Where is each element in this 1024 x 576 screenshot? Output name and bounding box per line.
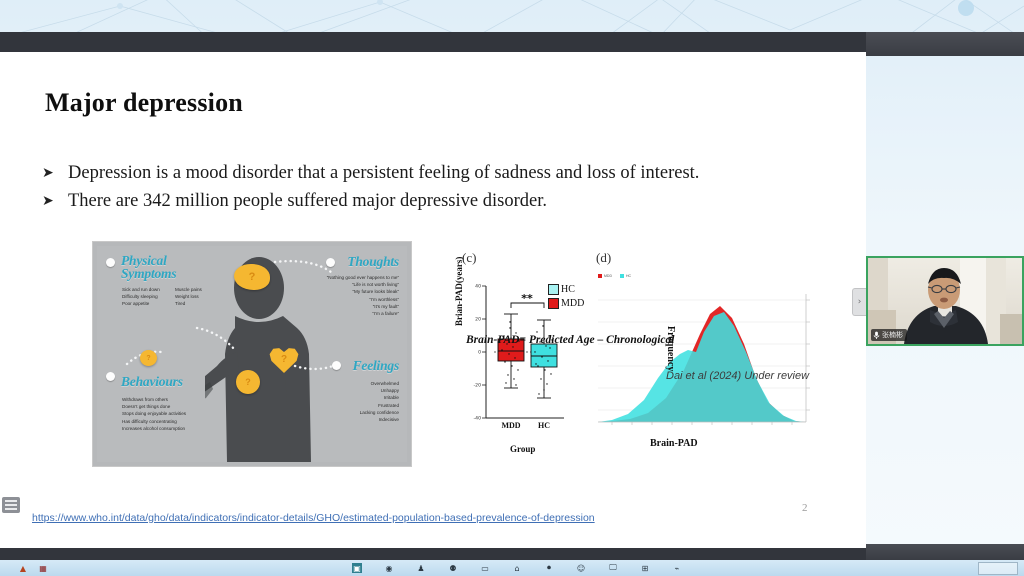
- density-chart-d: [592, 282, 820, 442]
- legend-item: HC: [548, 284, 584, 295]
- svg-text:20: 20: [475, 317, 481, 323]
- marker-dot: [326, 258, 335, 267]
- legend-panel-c: HC MDD: [548, 284, 584, 312]
- reaction-icon[interactable]: ☺: [576, 563, 586, 573]
- legend-label-mdd: MDD: [561, 298, 584, 309]
- page-title: Major depression: [45, 88, 243, 118]
- share-top-bar: [0, 32, 866, 52]
- depression-infographic: ? ? ? ? Physical Symptoms Sick and run d…: [92, 241, 412, 467]
- more-icon[interactable]: ⌁: [672, 563, 682, 573]
- legend-panel-d: MDD HC: [598, 274, 631, 278]
- marker-dot: [106, 372, 115, 381]
- taskbar[interactable]: ▲ ▦ ▣ ◉ ♟ ⚉ ▭ ⌂ ⏺ ☺ 🖵 ⊞ ⌁: [0, 560, 1024, 576]
- share-icon[interactable]: ⌂: [512, 563, 522, 573]
- people-icon[interactable]: ⚉: [448, 563, 458, 573]
- chat-icon[interactable]: ▭: [480, 563, 490, 573]
- source-link[interactable]: https://www.who.int/data/gho/data/indica…: [32, 512, 595, 524]
- taskbar-left-group: ▲ ▦: [18, 563, 48, 573]
- slide-page-number: 2: [802, 502, 808, 514]
- list-item: ➤There are 342 million people suffered m…: [42, 188, 842, 216]
- physical-symptoms-col2: Muscle pains Weight loss Tired: [175, 286, 202, 308]
- record-icon[interactable]: ⏺: [544, 563, 554, 573]
- panel-c-xlabel: Group: [510, 444, 535, 454]
- svg-text:**: **: [521, 292, 533, 305]
- legend-swatch-hc: [620, 274, 624, 278]
- legend-label-hc: HC: [561, 284, 575, 295]
- legend-swatch-mdd: [548, 298, 559, 309]
- svg-text:0: 0: [478, 350, 481, 356]
- panel-bottom-bar: [866, 544, 1024, 560]
- hand-blob-icon: ?: [140, 350, 157, 366]
- list-item: ➤Depression is a mood disorder that a pe…: [42, 160, 842, 188]
- bullet-list: ➤Depression is a mood disorder that a pe…: [42, 160, 842, 216]
- bullet-arrow-icon: ➤: [42, 188, 68, 215]
- legend-swatch-hc: [548, 284, 559, 295]
- bullet-arrow-icon: ➤: [42, 160, 68, 187]
- start-icon[interactable]: ▲: [18, 563, 28, 573]
- notes-panel-icon[interactable]: [2, 497, 20, 513]
- participant-name: 张楠彬: [882, 332, 903, 339]
- circle-blob-icon: ?: [236, 370, 260, 394]
- apps-icon[interactable]: ⊞: [640, 563, 650, 573]
- video-icon[interactable]: ▣: [352, 563, 362, 573]
- legend-item: MDD: [548, 298, 584, 309]
- svg-text:-40: -40: [473, 416, 481, 422]
- svg-text:40: 40: [475, 284, 481, 290]
- monitor-icon[interactable]: 🖵: [608, 563, 618, 573]
- panel-top-bar: [866, 32, 1024, 56]
- share-bottom-bar: [0, 548, 866, 560]
- quadrant-title-behaviours: Behaviours: [121, 374, 183, 390]
- participant-video-tile[interactable]: 张楠彬: [866, 256, 1024, 346]
- taskbar-center-group: ▣ ◉ ♟ ⚉ ▭ ⌂ ⏺ ☺ 🖵 ⊞ ⌁: [352, 563, 682, 573]
- bullet-text: Depression is a mood disorder that a per…: [68, 163, 699, 183]
- physical-symptoms-col1: Sick and run down Difficulty sleeping Po…: [122, 286, 160, 308]
- participant-name-badge: 张楠彬: [871, 329, 907, 341]
- thoughts-list: “Nothing good ever happens to me” “Life …: [249, 274, 399, 317]
- collapse-video-panel-button[interactable]: ›: [852, 288, 866, 316]
- quadrant-title-feelings: Feelings: [353, 358, 399, 374]
- legend-label-hc: HC: [626, 274, 631, 278]
- panel-d-ylabel: Frequency: [665, 326, 676, 371]
- person-icon[interactable]: ♟: [416, 563, 426, 573]
- app-icon[interactable]: ▦: [38, 563, 48, 573]
- figure-caption-note: Brain-PAD= Predicted Age – Chronological: [466, 334, 674, 346]
- legend-swatch-mdd: [598, 274, 602, 278]
- microphone-icon: [873, 331, 880, 340]
- svg-text:HC: HC: [538, 421, 550, 430]
- feelings-list: Overwhelmed Unhappy Irritable Frustrated…: [279, 380, 399, 423]
- legend-label-mdd: MDD: [604, 274, 612, 278]
- bullet-text: There are 342 million people suffered ma…: [68, 191, 547, 211]
- quadrant-title-physical: Physical Symptoms: [121, 254, 176, 280]
- taskbar-right-field[interactable]: [978, 562, 1018, 575]
- figure-panels: (c) Brian-PAD(years) 40 20 0: [452, 248, 832, 473]
- figure-caption-reference: Dai et al (2024) Under review: [666, 370, 809, 382]
- svg-text:MDD: MDD: [501, 421, 520, 430]
- presentation-slide: Major depression ➤Depression is a mood d…: [0, 52, 866, 548]
- panel-c-label: (c): [462, 250, 476, 266]
- quadrant-title-thoughts: Thoughts: [347, 254, 399, 270]
- marker-dot: [332, 361, 341, 370]
- behaviours-list: Withdraws from others Doesn’t get things…: [122, 396, 186, 432]
- panel-d-xlabel: Brain-PAD: [650, 438, 698, 449]
- panel-c-ylabel: Brian-PAD(years): [454, 257, 464, 326]
- marker-dot: [106, 258, 115, 267]
- camera-icon[interactable]: ◉: [384, 563, 394, 573]
- panel-d-label: (d): [596, 250, 611, 266]
- svg-text:-20: -20: [473, 383, 481, 389]
